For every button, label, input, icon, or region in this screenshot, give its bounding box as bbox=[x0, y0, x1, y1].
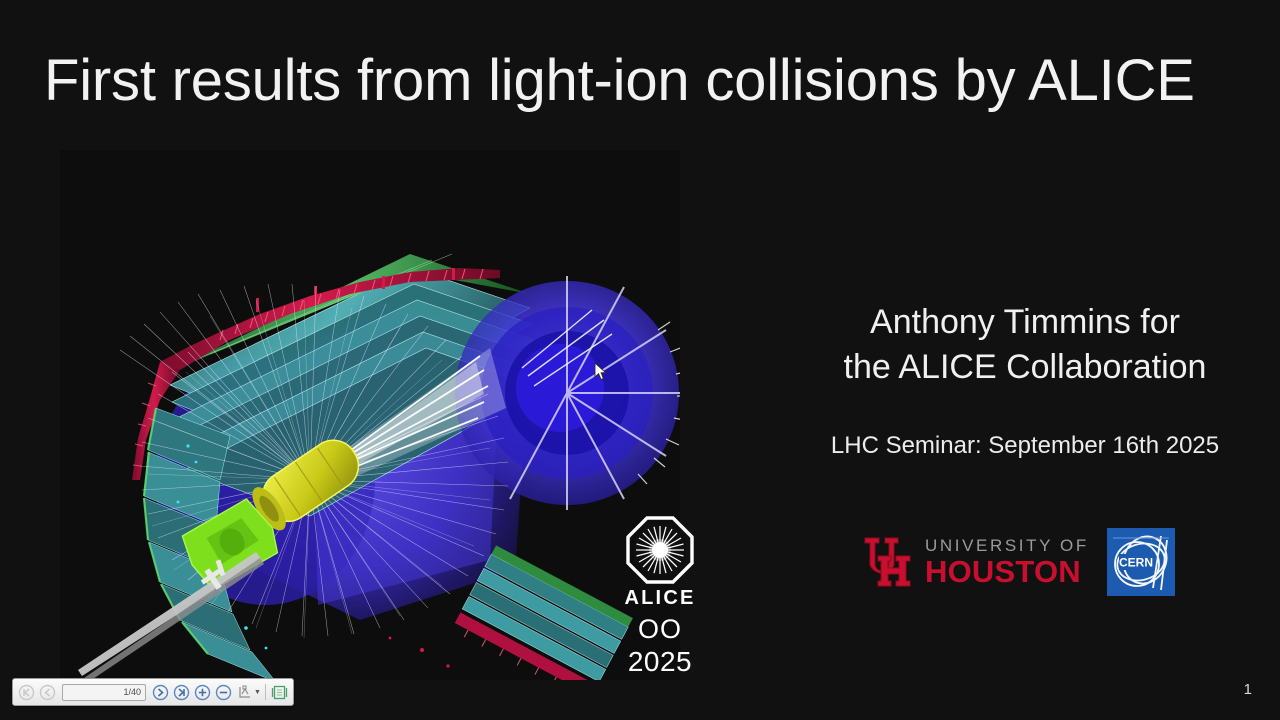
slide-number: 1 bbox=[1244, 681, 1252, 698]
uh-line-university-of: UNIVERSITY OF bbox=[925, 537, 1089, 554]
last-page-icon[interactable] bbox=[172, 683, 191, 702]
page-title: First results from light-ion collisions … bbox=[44, 48, 1244, 115]
alice-octagon-icon bbox=[626, 516, 694, 584]
university-of-houston-logo: UNIVERSITY OF HOUSTON bbox=[862, 534, 1089, 590]
mouse-cursor bbox=[594, 362, 607, 381]
uh-monogram-icon bbox=[862, 534, 914, 590]
zoom-in-icon[interactable] bbox=[193, 683, 212, 702]
author-block: Anthony Timmins for the ALICE Collaborat… bbox=[790, 300, 1260, 390]
chevron-down-icon[interactable]: ▼ bbox=[254, 689, 261, 696]
next-page-icon[interactable] bbox=[151, 683, 170, 702]
institution-logo-row: UNIVERSITY OF HOUSTON CERN bbox=[862, 528, 1175, 596]
fit-mode-icon bbox=[237, 684, 253, 700]
pdf-navigation-toolbar[interactable]: 1/40 bbox=[12, 678, 294, 706]
zoom-out-icon[interactable] bbox=[214, 683, 233, 702]
cern-label: CERN bbox=[1119, 556, 1153, 570]
page-number-input[interactable]: 1/40 bbox=[62, 684, 146, 701]
alice-logo: ALICE OO 2025 bbox=[612, 516, 708, 678]
page-indicator-text: 1/40 bbox=[123, 687, 141, 697]
uh-line-houston: HOUSTON bbox=[925, 556, 1089, 587]
alice-collision-system: OO bbox=[612, 614, 708, 645]
toolbar-divider bbox=[265, 684, 266, 700]
cern-logo: CERN bbox=[1107, 528, 1175, 596]
alice-year: 2025 bbox=[612, 646, 708, 678]
slide-viewer: First results from light-ion collisions … bbox=[0, 0, 1280, 720]
alice-wordmark: ALICE bbox=[612, 587, 708, 610]
uh-wordmark: UNIVERSITY OF HOUSTON bbox=[925, 537, 1089, 587]
previous-page-icon[interactable] bbox=[38, 683, 57, 702]
first-page-icon[interactable] bbox=[17, 683, 36, 702]
seminar-date: LHC Seminar: September 16th 2025 bbox=[790, 432, 1260, 460]
fit-page-icon[interactable] bbox=[270, 683, 289, 702]
alice-event-display-image bbox=[60, 150, 680, 680]
author-name-line-1: Anthony Timmins for bbox=[790, 300, 1260, 345]
author-name-line-2: the ALICE Collaboration bbox=[790, 345, 1260, 390]
zoom-level-dropdown[interactable]: ▼ bbox=[237, 684, 261, 700]
